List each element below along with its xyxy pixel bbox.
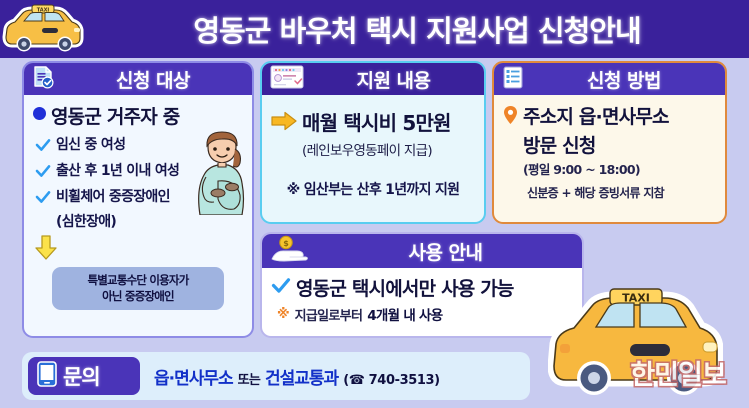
contact-conjunction: 또는	[238, 369, 260, 388]
pill-line-1: 특별교통수단 이용자가	[56, 273, 220, 289]
poster-root: TAXI 영동군 바우처 택시 지원사업 신청안내	[0, 0, 749, 408]
method-hours-row: (평일 9:00 ~ 18:00)	[523, 159, 716, 178]
target-item-note: (심한장애)	[56, 211, 116, 231]
voucher-card-icon	[270, 65, 304, 93]
support-main-text: 매월 택시비 5만원	[302, 107, 451, 136]
method-line2-text: 방문 신청	[523, 135, 596, 157]
document-check-icon	[32, 65, 55, 93]
page-header: TAXI 영동군 바우처 택시 지원사업 신청안내	[0, 0, 749, 58]
contact-badge-label: 문의	[63, 361, 100, 391]
support-sub-text: (레인보우영동페이 지급)	[302, 143, 432, 159]
card-target-title: 신청 대상	[62, 66, 244, 93]
taxi-icon: TAXI	[2, 4, 84, 54]
check-icon	[271, 277, 291, 298]
method-line1-row: 주소지 읍·면사무소	[503, 102, 716, 129]
svg-text:$: $	[283, 239, 289, 248]
method-line2-row: 방문 신청	[523, 131, 716, 158]
card-support-header: 지원 내용	[262, 63, 484, 95]
contact-office: 읍·면사무소	[154, 364, 233, 389]
support-note-row: ※ 임산부는 산후 1년까지 지원	[271, 179, 475, 199]
check-icon	[35, 137, 51, 156]
target-lead-text: 영동군 거주자 중	[51, 102, 179, 129]
support-sub-row: (레인보우영동페이 지급)	[302, 139, 475, 159]
method-docs-text: 신분증 + 해당 증빙서류 지참	[527, 186, 664, 200]
check-icon	[35, 189, 51, 208]
card-application-method: 신청 방법 주소지 읍·면사무소 방문 신청 (평일 9:00 ~ 18:00)…	[492, 61, 727, 224]
check-icon	[35, 163, 51, 182]
card-target-body: 영동군 거주자 중 임신 중 여성	[24, 95, 252, 316]
support-note-text: ※ 임산부는 산후 1년까지 지원	[287, 179, 460, 199]
phone-icon	[37, 361, 57, 391]
method-line1-text: 주소지 읍·면사무소	[523, 102, 669, 129]
target-item-label: 임신 중 여성	[56, 134, 125, 154]
contact-department: 건설교통과	[265, 364, 338, 389]
asterisk-icon: ※	[277, 307, 290, 322]
contact-text: 읍·면사무소 또는 건설교통과 (☎ 740-3513)	[154, 364, 440, 389]
contact-bar: 문의 읍·면사무소 또는 건설교통과 (☎ 740-3513)	[22, 352, 530, 400]
contact-tel: (☎ 740-3513)	[343, 373, 440, 388]
bullet-dot-icon	[33, 107, 46, 120]
target-lead-row: 영동군 거주자 중	[33, 102, 243, 129]
card-usage-header: $ 사용 안내	[262, 234, 582, 268]
contact-badge: 문의	[28, 357, 140, 395]
method-hours-text: (평일 9:00 ~ 18:00)	[523, 162, 640, 177]
pill-line-2: 아닌 중증장애인	[56, 289, 220, 305]
card-support-body: 매월 택시비 5만원 (레인보우영동페이 지급) ※ 임산부는 산후 1년까지 …	[262, 95, 484, 208]
clipboard-list-icon	[502, 65, 524, 93]
target-highlight-pill: 특별교통수단 이용자가 아닌 중증장애인	[52, 267, 224, 310]
arrow-down-icon	[33, 235, 243, 265]
target-item-label: 출산 후 1년 이내 여성	[56, 160, 179, 180]
usage-main-text: 영동군 택시에서만 사용 가능	[296, 274, 514, 301]
card-support-content: 지원 내용 매월 택시비 5만원 (레인보우영동페이 지급) ※ 임산부는 산후…	[260, 61, 486, 224]
usage-note-row: ※ 지급일로부터 4개월 내 사용	[277, 304, 573, 324]
location-pin-icon	[503, 105, 518, 129]
card-method-title: 신청 방법	[531, 66, 717, 93]
card-usage-body: 영동군 택시에서만 사용 가능 ※ 지급일로부터 4개월 내 사용	[262, 268, 582, 333]
card-method-header: 신청 방법	[494, 63, 725, 95]
usage-note-strong: 4개월 내 사용	[367, 304, 442, 324]
card-application-target: 신청 대상	[22, 61, 254, 338]
support-main-row: 매월 택시비 5만원	[271, 107, 475, 136]
card-usage-title: 사용 안내	[317, 238, 574, 265]
usage-main-row: 영동군 택시에서만 사용 가능	[271, 274, 573, 301]
arrow-right-icon	[271, 111, 297, 135]
coin-hand-icon: $	[270, 235, 310, 267]
page-title: 영동군 바우처 택시 지원사업 신청안내	[92, 0, 742, 58]
pregnant-woman-illustration	[188, 131, 250, 219]
card-target-header: 신청 대상	[24, 63, 252, 95]
watermark: 한민일보	[612, 352, 744, 392]
usage-note-pre: 지급일로부터	[295, 305, 363, 324]
card-support-title: 지원 내용	[311, 66, 476, 93]
target-item-label: 비휠체어 중증장애인	[56, 186, 170, 206]
card-usage-guide: $ 사용 안내 영동군 택시에서만 사용 가능 ※ 지급일로부터 4개월 내 사…	[260, 232, 584, 338]
card-method-body: 주소지 읍·면사무소 방문 신청 (평일 9:00 ~ 18:00) 신분증 +…	[494, 95, 725, 207]
method-docs-row: 신분증 + 해당 증빙서류 지참	[527, 182, 716, 201]
